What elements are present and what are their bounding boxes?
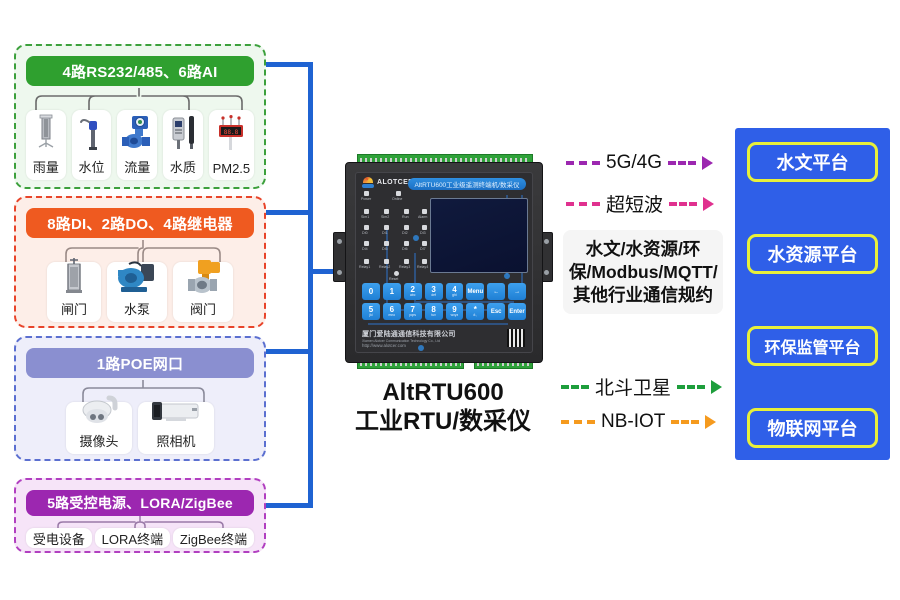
key-label: → xyxy=(514,289,520,295)
reset-button-label: Reset xyxy=(389,277,398,281)
led-di5-label: DI5 xyxy=(382,247,388,251)
reset-button[interactable] xyxy=(394,271,399,276)
platform-label: 物联网平台 xyxy=(768,415,858,441)
key-2[interactable]: 2abc xyxy=(404,283,422,300)
key-label: 0 xyxy=(369,288,373,296)
platform-label: 水资源平台 xyxy=(768,241,858,267)
device-footer: 厦门爱陆通通信科技有限公司 Xiamen Alotcer Communicati… xyxy=(362,329,456,348)
bus-branch-panel2 xyxy=(262,210,312,215)
device-model-banner: AltRTU600工业级遥测终端机/数采仪 xyxy=(408,178,526,190)
led-di3 xyxy=(422,225,427,230)
panel-power-lora-zigbee-items: 受电设备 LORA终端 ZigBee终端 xyxy=(26,528,254,548)
pcb-trace xyxy=(368,323,508,325)
key-label: ← xyxy=(493,289,499,295)
led-di7-label: DI7 xyxy=(420,247,426,251)
list-item-label: PM2.5 xyxy=(213,158,251,180)
alotcer-logo-icon xyxy=(362,177,374,188)
device-body: ALOTCER AltRTU600工业级遥测终端机/数采仪 Power Onli… xyxy=(345,162,543,363)
list-item[interactable]: 阀门 xyxy=(173,262,233,322)
led-run xyxy=(404,209,409,214)
key-sublabel: ghi xyxy=(452,294,457,297)
led-di0 xyxy=(364,225,369,230)
company-website: http://www.alotcer.com xyxy=(362,343,456,348)
list-item-label: 雨量 xyxy=(33,154,59,180)
panel-di-do-relay-items: 闸门 水泵 xyxy=(26,262,254,322)
led-relay3-label: Relay3 xyxy=(399,265,410,269)
key-label: Menu xyxy=(467,289,483,295)
platform-label: 环保监管平台 xyxy=(764,334,860,358)
led-di7 xyxy=(422,241,427,246)
key-sublabel: def xyxy=(431,294,436,297)
platform-item-water-resources[interactable]: 水资源平台 xyxy=(747,234,878,274)
led-relay2 xyxy=(384,259,389,264)
led-sim1 xyxy=(364,209,369,214)
bus-branch-panel3 xyxy=(262,349,312,354)
panel-poe-items: 摄像头 照相机 xyxy=(26,402,254,454)
list-item-label: 照相机 xyxy=(156,428,195,454)
link-nbiot-arrow xyxy=(705,415,716,429)
list-item-label: 水泵 xyxy=(124,296,150,322)
pm25-monitor-icon: 88.8 xyxy=(209,110,254,158)
link-uhf-dash-left xyxy=(566,202,600,206)
led-power xyxy=(364,191,369,196)
list-item-label: 阀门 xyxy=(190,296,216,322)
list-item[interactable]: 摄像头 xyxy=(66,402,132,454)
list-item[interactable]: 闸门 xyxy=(47,262,101,322)
list-item[interactable]: 水泵 xyxy=(107,262,167,322)
bus-branch-panel1 xyxy=(262,62,312,67)
rain-gauge-icon xyxy=(26,110,66,154)
panel-poe-header: 1路POE网口 xyxy=(26,348,254,378)
list-item-label: 摄像头 xyxy=(79,428,118,454)
led-power-label: Power xyxy=(361,197,371,201)
led-relay4-label: Relay4 xyxy=(417,265,428,269)
led-sim1-label: Sim1 xyxy=(361,215,369,219)
link-uhf-arrow xyxy=(703,197,714,211)
led-relay3 xyxy=(404,259,409,264)
panel-rs232-ai-header: 4路RS232/485、6路AI xyxy=(26,56,254,86)
link-beidou: 北斗卫星 xyxy=(561,373,722,400)
panel-di-do-relay: 8路DI、2路DO、4路继电器 闸门 xyxy=(14,196,266,328)
brand-logo: ALOTCER xyxy=(362,177,414,188)
key-8[interactable]: 8tuv xyxy=(425,303,443,320)
key-sublabel: tuv xyxy=(431,314,436,317)
platform-item-environmental[interactable]: 环保监管平台 xyxy=(747,326,878,366)
link-nbiot: NB-IOT xyxy=(561,411,716,433)
list-item-label: LORA终端 xyxy=(102,529,163,548)
link-uhf: 超短波 xyxy=(566,190,714,217)
link-beidou-label: 北斗卫星 xyxy=(595,373,671,400)
list-item-label: 闸门 xyxy=(61,296,87,322)
led-relay4 xyxy=(422,259,427,264)
valve-icon xyxy=(173,256,233,296)
water-pump-icon xyxy=(107,256,167,296)
led-di0-label: DI0 xyxy=(362,231,368,235)
link-5g4g-dash-right xyxy=(668,161,696,165)
link-5g4g-label: 5G/4G xyxy=(606,152,662,174)
platform-label: 水文平台 xyxy=(777,149,849,175)
key-label: Enter xyxy=(509,309,524,315)
key-label: Esc xyxy=(491,309,502,315)
list-item[interactable]: LORA终端 xyxy=(95,528,170,548)
key-6[interactable]: 6mno xyxy=(383,303,401,320)
key-4[interactable]: 4ghi xyxy=(446,283,464,300)
list-item[interactable]: 水位 xyxy=(72,110,112,180)
link-beidou-dash-right xyxy=(677,385,705,389)
list-item[interactable]: 88.8 PM2.5 xyxy=(209,110,254,180)
led-di4-label: DI4 xyxy=(362,247,368,251)
led-sim2 xyxy=(384,209,389,214)
device-caption: AltRTU600 工业RTU/数采仪 xyxy=(333,378,553,437)
key-sublabel: abc xyxy=(410,294,415,297)
link-5g4g-arrow xyxy=(702,156,713,170)
key-right-arrow[interactable]: → xyxy=(508,283,526,300)
led-relay1-label: Relay1 xyxy=(359,265,370,269)
key-5[interactable]: 5jkl xyxy=(362,303,380,320)
list-item-label: 水位 xyxy=(79,154,105,180)
key-star[interactable]: *#., xyxy=(466,303,484,320)
pcb-node xyxy=(413,235,419,241)
led-di2-label: DI2 xyxy=(402,231,408,235)
lcd-display[interactable] xyxy=(430,198,528,273)
led-di6 xyxy=(404,241,409,246)
led-run-label: Run xyxy=(402,215,409,219)
link-uhf-dash-right xyxy=(669,202,697,206)
link-uhf-label: 超短波 xyxy=(606,190,663,217)
keypad-row-2: 5jkl 6mno 7pqrs 8tuv 9wxyz *#., Esc Ente… xyxy=(362,303,526,320)
rtu-device[interactable]: ALOTCER AltRTU600工业级遥测终端机/数采仪 Power Onli… xyxy=(333,154,553,369)
key-sublabel: mno xyxy=(389,314,396,317)
key-menu[interactable]: Menu xyxy=(466,283,484,300)
link-beidou-arrow xyxy=(711,380,722,394)
protocol-list: 水文/水资源/环保/Modbus/MQTT/其他行业通信规约 xyxy=(563,230,723,314)
link-beidou-dash-left xyxy=(561,385,589,389)
key-0[interactable]: 0 xyxy=(362,283,380,300)
panel-rs232-ai-items: 雨量 水位 xyxy=(26,110,254,180)
key-1[interactable]: 1 xyxy=(383,283,401,300)
key-9[interactable]: 9wxyz xyxy=(446,303,464,320)
list-item-label: ZigBee终端 xyxy=(180,529,247,548)
led-di3-label: DI3 xyxy=(420,231,426,235)
key-sublabel: jkl xyxy=(369,314,372,317)
panel-di-do-relay-header: 8路DI、2路DO、4路继电器 xyxy=(26,208,254,238)
list-item[interactable]: 流量 xyxy=(117,110,157,180)
panel-power-lora-zigbee-header: 5路受控电源、LORA/ZigBee xyxy=(26,490,254,516)
led-online xyxy=(396,191,401,196)
device-caption-line2: 工业RTU/数采仪 xyxy=(333,407,553,436)
keypad[interactable]: 0 1 2abc 3def 4ghi Menu ← → 5jkl 6mno 7p… xyxy=(362,283,526,323)
key-sublabel: pqrs xyxy=(409,314,416,317)
led-sim2-label: Sim2 xyxy=(381,215,389,219)
led-alarm xyxy=(422,209,427,214)
led-di4 xyxy=(364,241,369,246)
flow-meter-icon xyxy=(117,110,157,154)
list-item[interactable]: 水质 xyxy=(163,110,203,180)
link-nbiot-dash-left xyxy=(561,420,595,424)
key-enter[interactable]: Enter xyxy=(508,303,526,320)
panel-rs232-ai-brace xyxy=(26,88,258,110)
list-item-label: 流量 xyxy=(124,154,150,180)
led-online-label: Online xyxy=(392,197,402,201)
bullet-camera-icon xyxy=(138,394,214,428)
key-label: 1 xyxy=(390,288,394,296)
key-3[interactable]: 3def xyxy=(425,283,443,300)
device-front-panel: ALOTCER AltRTU600工业级遥测终端机/数采仪 Power Onli… xyxy=(355,172,533,353)
svg-text:88.8: 88.8 xyxy=(224,129,239,136)
bus-vertical-trunk xyxy=(308,62,313,508)
keypad-row-1: 0 1 2abc 3def 4ghi Menu ← → xyxy=(362,283,526,300)
dome-camera-icon xyxy=(66,394,132,428)
key-sublabel: #., xyxy=(473,314,477,317)
panel-rs232-ai: 4路RS232/485、6路AI 雨量 xyxy=(14,44,266,189)
link-5g4g-dash-left xyxy=(566,161,600,165)
qr-code-icon xyxy=(507,329,525,347)
led-di1-label: DI1 xyxy=(382,231,388,235)
link-nbiot-label: NB-IOT xyxy=(601,411,665,433)
bus-branch-panel4 xyxy=(262,503,312,508)
led-relay1 xyxy=(364,259,369,264)
list-item-label: 受电设备 xyxy=(33,529,85,548)
platform-item-hydrology[interactable]: 水文平台 xyxy=(747,142,878,182)
device-caption-line1: AltRTU600 xyxy=(333,378,553,407)
diagram-canvas: 4路RS232/485、6路AI 雨量 xyxy=(0,0,900,600)
list-item[interactable]: 雨量 xyxy=(26,110,66,180)
key-esc[interactable]: Esc xyxy=(487,303,505,320)
panel-power-lora-zigbee: 5路受控电源、LORA/ZigBee 受电设备 LORA终端 ZigBee终端 xyxy=(14,478,266,553)
list-item[interactable]: 照相机 xyxy=(138,402,214,454)
pcb-node xyxy=(504,273,510,279)
led-di1 xyxy=(384,225,389,230)
company-name-cn: 厦门爱陆通通信科技有限公司 xyxy=(362,329,456,339)
led-di5 xyxy=(384,241,389,246)
panel-poe: 1路POE网口 摄像头 xyxy=(14,336,266,461)
led-relay2-label: Relay2 xyxy=(379,265,390,269)
key-left-arrow[interactable]: ← xyxy=(487,283,505,300)
key-sublabel: wxyz xyxy=(451,314,459,317)
list-item[interactable]: 受电设备 xyxy=(26,528,92,548)
sluice-gate-icon xyxy=(47,256,101,296)
water-quality-probe-icon xyxy=(163,110,203,154)
key-7[interactable]: 7pqrs xyxy=(404,303,422,320)
led-alarm-label: Alarm xyxy=(418,215,427,219)
link-nbiot-dash-right xyxy=(671,420,699,424)
led-di6-label: DI6 xyxy=(402,247,408,251)
water-level-sensor-icon xyxy=(72,110,112,154)
platform-item-iot[interactable]: 物联网平台 xyxy=(747,408,878,448)
led-di2 xyxy=(404,225,409,230)
link-5g4g: 5G/4G xyxy=(566,152,713,174)
list-item-label: 水质 xyxy=(170,154,196,180)
platform-panel: 水文平台 水资源平台 环保监管平台 物联网平台 xyxy=(735,128,890,460)
list-item[interactable]: ZigBee终端 xyxy=(173,528,254,548)
